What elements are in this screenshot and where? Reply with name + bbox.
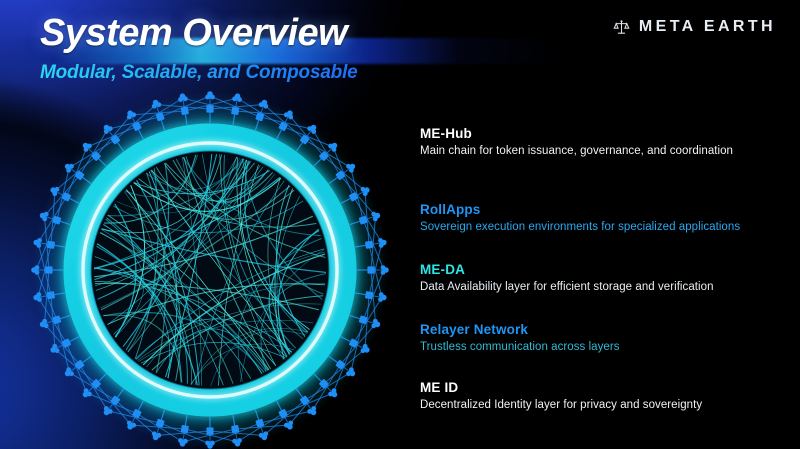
network-diagram-svg <box>10 80 410 449</box>
layer-description: Trustless communication across layers <box>420 341 780 353</box>
layer-description: Sovereign execution environments for spe… <box>420 221 780 233</box>
modular-network-ring-diagram <box>10 80 410 449</box>
layer-item-me-hub[interactable]: ME-Hub Main chain for token issuance, go… <box>420 126 780 157</box>
layer-item-me-id[interactable]: ME ID Decentralized Identity layer for p… <box>420 380 780 411</box>
layer-description: Data Availability layer for efficient st… <box>420 281 780 293</box>
layer-title: ME-DA <box>420 262 780 277</box>
layer-title: Relayer Network <box>420 322 780 337</box>
brand-name: META EARTH <box>639 18 776 36</box>
page-title: System Overview <box>40 12 347 55</box>
slide-canvas: System Overview Modular, Scalable, and C… <box>0 0 800 449</box>
brand-logo: META EARTH <box>613 18 776 36</box>
layer-description: Main chain for token issuance, governanc… <box>420 145 780 157</box>
layer-item-relayer-network[interactable]: Relayer Network Trustless communication … <box>420 322 780 353</box>
layer-item-rollapps[interactable]: RollApps Sovereign execution environment… <box>420 202 780 233</box>
layer-title: RollApps <box>420 202 780 217</box>
balance-scale-icon <box>613 19 630 36</box>
layer-item-me-da[interactable]: ME-DA Data Availability layer for effici… <box>420 262 780 293</box>
layer-title: ME ID <box>420 380 780 395</box>
layer-title: ME-Hub <box>420 126 780 141</box>
layer-description: Decentralized Identity layer for privacy… <box>420 399 780 411</box>
